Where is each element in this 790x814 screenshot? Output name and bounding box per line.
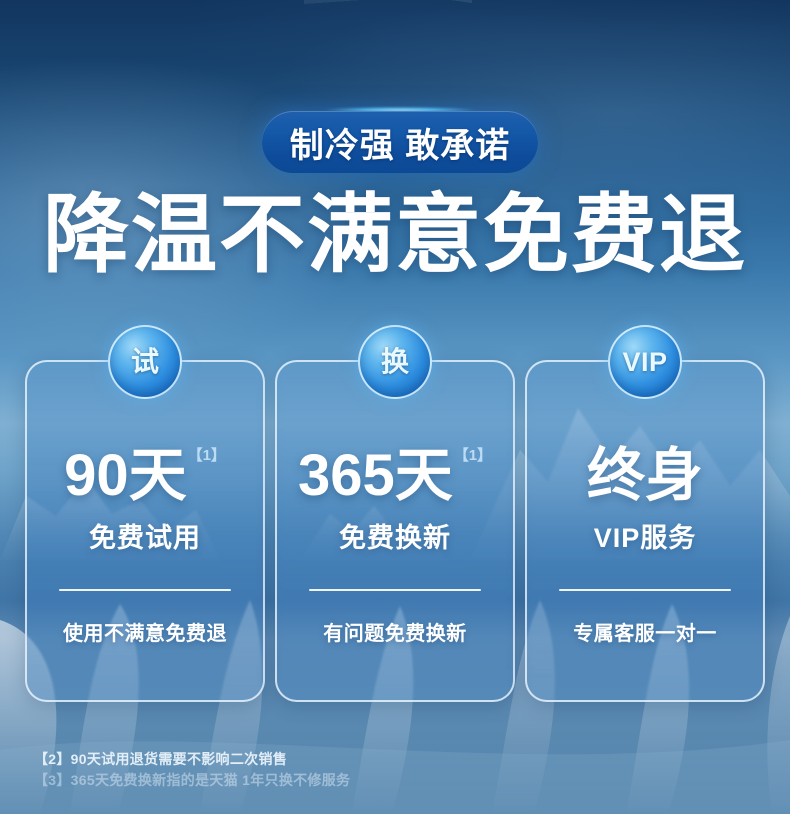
- service-cards-row: 试 90天 【1】 免费试用 使用不满意免费退 换 365天 【1】 免费换新 …: [25, 360, 765, 702]
- card-big-value: 90天: [64, 446, 187, 506]
- card-big-value: 365天: [298, 446, 453, 506]
- card-big-value: 终身: [587, 446, 703, 506]
- card-badge-vip: VIP: [608, 325, 682, 399]
- footnote-3: 【3】365天免费换新指的是天猫 1年只换不修服务: [34, 770, 634, 791]
- service-card-trial[interactable]: 试 90天 【1】 免费试用 使用不满意免费退: [25, 360, 265, 702]
- card-badge-label: 试: [131, 348, 159, 376]
- card-note: 使用不满意免费退: [63, 617, 227, 646]
- card-footnote-marker: 【1】: [188, 448, 226, 463]
- card-note: 专属客服一对一: [573, 617, 717, 646]
- card-divider: [59, 589, 231, 591]
- card-headline-row: 365天 【1】: [277, 446, 513, 508]
- promo-poster: 制冷强 敢承诺 降温不满意免费退 试 90天 【1】 免费试用 使用不满意免费退…: [0, 0, 790, 814]
- card-note: 有问题免费换新: [323, 617, 467, 646]
- tagline-text: 制冷强 敢承诺: [290, 118, 510, 167]
- service-card-exchange[interactable]: 换 365天 【1】 免费换新 有问题免费换新: [275, 360, 515, 702]
- card-headline-row: 终身: [527, 446, 763, 508]
- card-subtitle: 免费试用: [89, 516, 201, 555]
- card-divider: [309, 589, 481, 591]
- page-headline: 降温不满意免费退: [0, 185, 790, 285]
- card-divider: [559, 589, 731, 591]
- footnote-2: 【2】90天试用退货需要不影响二次销售: [34, 749, 634, 770]
- card-badge-label: 换: [381, 348, 409, 376]
- footnotes-block: 【2】90天试用退货需要不影响二次销售 【3】365天免费换新指的是天猫 1年只…: [34, 749, 634, 791]
- tagline-pill: 制冷强 敢承诺: [262, 111, 538, 173]
- card-headline-row: 90天 【1】: [27, 446, 263, 508]
- card-badge-label: VIP: [622, 349, 667, 376]
- service-card-vip[interactable]: VIP 终身 VIP服务 专属客服一对一: [525, 360, 765, 702]
- card-badge-trial: 试: [108, 325, 182, 399]
- card-subtitle: VIP服务: [594, 516, 697, 555]
- card-footnote-marker: 【1】: [454, 448, 492, 463]
- card-badge-exchange: 换: [358, 325, 432, 399]
- card-subtitle: 免费换新: [339, 516, 451, 555]
